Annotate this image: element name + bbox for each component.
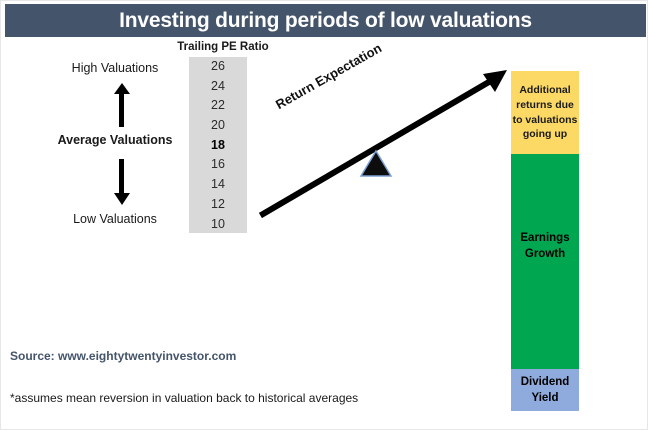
footnote: *assumes mean reversion in valuation bac…: [10, 391, 358, 405]
label-low-valuations: Low Valuations: [45, 212, 185, 226]
bar-segment-label: Dividend Yield: [511, 374, 579, 406]
pe-ratio-list: 26 24 22 20 18 16 14 12 10: [189, 57, 247, 233]
down-arrow-shaft: [119, 159, 124, 194]
fulcrum-triangle-icon: [361, 151, 391, 176]
pe-value: 24: [211, 80, 225, 93]
pe-value: 20: [211, 119, 225, 132]
slide-title-bar: Investing during periods of low valuatio…: [5, 4, 646, 37]
label-high-valuations: High Valuations: [45, 61, 185, 75]
bar-segment-label: Additional returns due to valuations goi…: [511, 83, 579, 143]
down-arrow-icon: [114, 159, 130, 205]
page-title: Investing during periods of low valuatio…: [5, 9, 646, 33]
pe-value: 26: [211, 60, 225, 73]
down-arrow-head: [114, 193, 130, 205]
pe-value-average: 18: [211, 139, 225, 152]
up-arrow-icon: [114, 83, 130, 127]
pe-value: 10: [211, 218, 225, 231]
bar-segment-additional-returns: Additional returns due to valuations goi…: [511, 71, 579, 154]
pe-ratio-header: Trailing PE Ratio: [167, 41, 279, 53]
arrow-head: [483, 70, 507, 92]
pe-value: 12: [211, 198, 225, 211]
up-arrow-shaft: [119, 93, 124, 127]
return-arrow-svg: [251, 56, 521, 231]
bar-segment-earnings-growth: Earnings Growth: [511, 154, 579, 369]
return-expectation-label: Return Expectation: [273, 40, 384, 112]
bar-segment-dividend-yield: Dividend Yield: [511, 369, 579, 411]
slide-canvas: Investing during periods of low valuatio…: [0, 0, 648, 430]
pe-value: 22: [211, 99, 225, 112]
bar-segment-label: Earnings Growth: [511, 230, 579, 262]
return-expectation-arrow: [251, 56, 521, 231]
pe-value: 16: [211, 158, 225, 171]
label-average-valuations: Average Valuations: [45, 133, 185, 147]
source-attribution: Source: www.eightytwentyinvestor.com: [10, 349, 236, 363]
pe-value: 14: [211, 178, 225, 191]
